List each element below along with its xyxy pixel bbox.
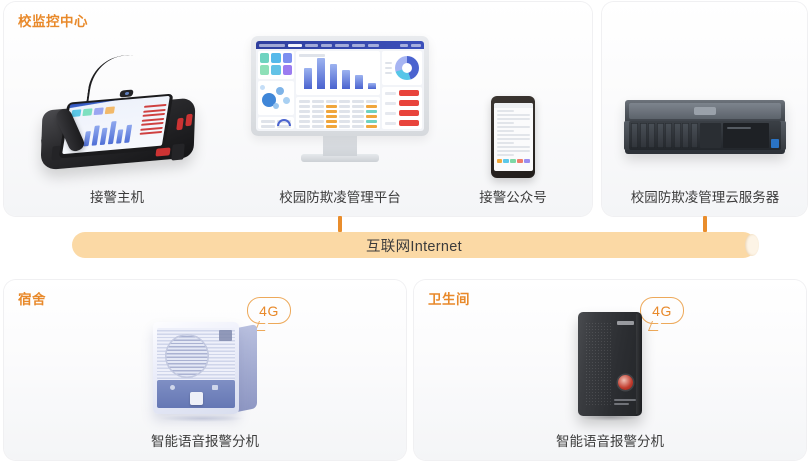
dashboard-right-column (382, 51, 422, 129)
server-front-face (629, 121, 781, 150)
wall-speaker-label-plate (212, 385, 218, 390)
wall-speaker-grille (165, 334, 209, 378)
internet-bar-label: 互联网Internet (366, 235, 462, 256)
dashboard-barchart (304, 55, 376, 89)
device-management-platform: 校园防欺凌管理平台 (245, 36, 435, 208)
connector-stub-center (338, 216, 342, 232)
desktop-monitor-icon (251, 36, 429, 164)
dashboard-barchart-card (296, 51, 380, 95)
rack-server-icon (625, 100, 785, 154)
console-screen-alerts (139, 104, 166, 137)
phone-color-chips (497, 159, 530, 163)
server-top-lid (629, 103, 781, 119)
device-label-management-platform: 校园防欺凌管理平台 (245, 186, 435, 206)
wall-speaker-icon (153, 318, 257, 418)
console-foot-right (171, 144, 185, 161)
device-wechat-official-account: 接警公众号 (448, 96, 578, 208)
dashboard-donut-legend (385, 62, 392, 75)
device-alarm-console: 接警主机 (22, 58, 212, 208)
dashboard-bubble-card (258, 81, 294, 115)
device-label-dormitory-speaker: 智能语音报警分机 (105, 430, 305, 450)
dashboard-gauge-card (258, 117, 294, 129)
wall-speaker-shadow (159, 415, 245, 422)
black-speaker-grille (585, 322, 611, 406)
server-cpu-badge (771, 139, 779, 148)
wall-speaker-logo (219, 330, 232, 341)
black-speaker-edge (636, 314, 642, 414)
monitor-screen (256, 41, 424, 131)
dashboard-alert-row (385, 110, 419, 116)
panel-title-restroom: 卫生间 (428, 288, 470, 308)
dashboard-left-column (258, 51, 294, 129)
diagram-root: 校监控中心 (0, 0, 810, 463)
dashboard-tile-grid-card (258, 51, 294, 79)
phone-screen (494, 103, 533, 171)
device-label-wechat-official-account: 接警公众号 (448, 186, 578, 206)
black-speaker-icon (578, 312, 642, 416)
server-blank-panel (700, 123, 722, 148)
dashboard-donut-card (382, 51, 422, 85)
dashboard-alert-row (385, 90, 419, 96)
black-speaker-logo (617, 321, 634, 325)
dashboard-alert-list-card (382, 87, 422, 129)
device-label-alarm-console: 接警主机 (22, 186, 212, 206)
black-speaker-emergency-button[interactable] (618, 375, 633, 390)
device-restroom-speaker: 智能语音报警分机 (510, 312, 710, 448)
wall-speaker-side (237, 324, 257, 412)
device-cloud-server: 校园防欺凌管理云服务器 (612, 100, 798, 208)
internet-bar: 互联网Internet (72, 232, 756, 258)
panel-title-dormitory: 宿舍 (18, 288, 46, 308)
dashboard-table-card (296, 97, 380, 129)
console-red-button-3 (155, 147, 170, 156)
device-label-cloud-server: 校园防欺凌管理云服务器 (612, 186, 798, 206)
dashboard-alert-row (385, 100, 419, 106)
dashboard-donut-chart (395, 56, 419, 80)
dashboard-body (256, 49, 424, 131)
smartphone-icon (491, 96, 535, 178)
console-screen-barchart (83, 117, 133, 147)
server-optical-drive (723, 123, 769, 148)
dashboard-center-column (296, 51, 380, 129)
wall-speaker-indicator (170, 385, 175, 390)
connector-stub-right (703, 216, 707, 232)
panel-title-monitoring-center: 校监控中心 (18, 10, 88, 30)
wall-speaker-call-button[interactable] (190, 392, 203, 405)
dashboard-alert-row (385, 120, 419, 126)
dashboard-gauge (277, 119, 291, 126)
server-drive-bays (631, 123, 698, 148)
dashboard-navbar (256, 41, 424, 49)
internet-bar-end-cap (745, 234, 759, 256)
phone-status-bar (494, 103, 533, 108)
dashboard-table (296, 97, 380, 129)
console-screen-tiles (71, 106, 115, 117)
badge-4g-dormitory-label: 4G (259, 303, 279, 319)
monitor-bezel (251, 36, 429, 136)
monitor-stand-neck (323, 136, 357, 156)
dashboard-tile-grid (258, 51, 294, 77)
black-speaker-nameplate (614, 399, 636, 407)
device-label-restroom-speaker: 智能语音报警分机 (510, 430, 710, 450)
dashboard-bubble-chart (258, 81, 294, 115)
wall-speaker-control-panel (157, 380, 235, 408)
wall-speaker-front (153, 322, 239, 414)
alarm-console-icon (34, 58, 204, 173)
device-dormitory-speaker: 智能语音报警分机 (105, 318, 305, 448)
